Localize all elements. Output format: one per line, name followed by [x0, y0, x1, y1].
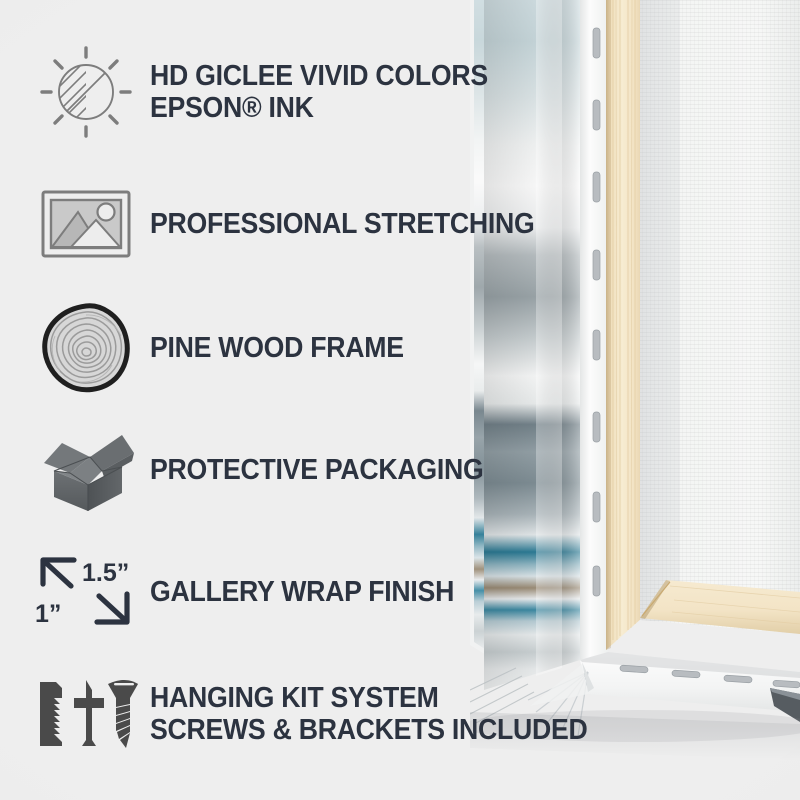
feature-label-pine-wood-line1: PINE WOOD FRAME — [150, 332, 404, 364]
product-features-infographic: HD GICLEE VIVID COLORS EPSON® INK — [0, 0, 800, 800]
feature-label-packaging-line1: PROTECTIVE PACKAGING — [150, 454, 483, 486]
feature-item-stretching: PROFESSIONAL STRETCHING — [34, 172, 500, 276]
feature-label-pine-wood: PINE WOOD FRAME — [150, 332, 404, 364]
feature-label-hanging-kit: HANGING KIT SYSTEM SCREWS & BRACKETS INC… — [150, 682, 588, 747]
open-box-icon — [34, 418, 138, 522]
bracket-hanger-shape — [40, 682, 62, 746]
framed-picture-icon — [34, 172, 138, 276]
feature-list: HD GICLEE VIVID COLORS EPSON® INK — [0, 0, 500, 800]
feature-label-giclee-line1: HD GICLEE VIVID COLORS — [150, 60, 488, 92]
feature-label-packaging: PROTECTIVE PACKAGING — [150, 454, 483, 486]
canvas-back-corner-photo — [470, 0, 800, 800]
feature-label-gallery-wrap: GALLERY WRAP FINISH — [150, 576, 454, 608]
corner-arrows-icon: 1.5” 1” — [34, 540, 138, 644]
feature-item-gallery-wrap: 1.5” 1” GALLERY WRAP FINISH — [34, 540, 500, 644]
wood-rings-icon — [34, 296, 138, 400]
feature-label-gallery-wrap-line1: GALLERY WRAP FINISH — [150, 576, 454, 608]
feature-label-stretching: PROFESSIONAL STRETCHING — [150, 208, 535, 240]
feature-label-hanging-kit-line1: HANGING KIT SYSTEM — [150, 682, 439, 714]
feature-item-packaging: PROTECTIVE PACKAGING — [34, 418, 500, 522]
feature-item-giclee: HD GICLEE VIVID COLORS EPSON® INK — [34, 40, 500, 144]
feature-label-stretching-line1: PROFESSIONAL STRETCHING — [150, 208, 535, 240]
feature-label-giclee: HD GICLEE VIVID COLORS EPSON® INK — [150, 60, 488, 125]
feature-label-hanging-kit-line2: SCREWS & BRACKETS INCLUDED — [150, 714, 588, 746]
feature-label-giclee-line2: EPSON® INK — [150, 92, 488, 124]
feature-item-pine-wood: PINE WOOD FRAME — [34, 296, 500, 400]
hardware-icon — [34, 662, 138, 766]
gallery-depth-label: 1.5” — [82, 559, 129, 587]
gallery-width-label: 1” — [35, 600, 61, 628]
sun-icon — [34, 40, 138, 144]
nail-shape — [74, 680, 104, 746]
feature-item-hanging-kit: HANGING KIT SYSTEM SCREWS & BRACKETS INC… — [34, 662, 500, 766]
